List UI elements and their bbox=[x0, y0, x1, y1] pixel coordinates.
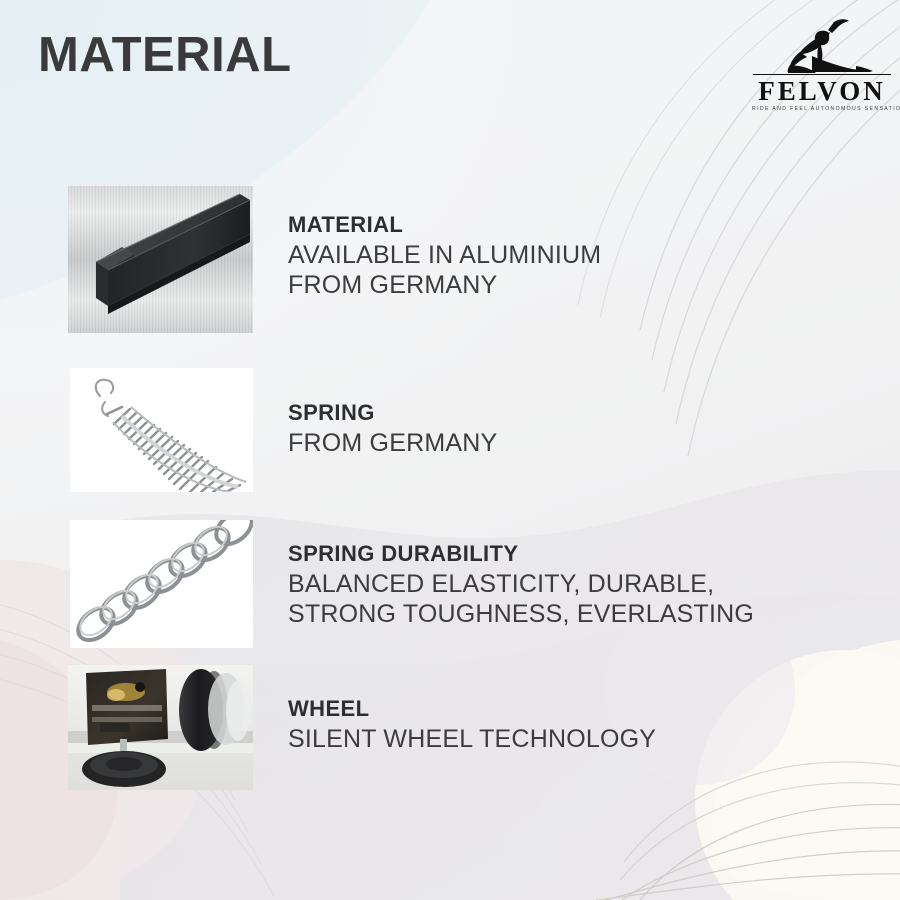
square-tube-illustration bbox=[68, 186, 253, 333]
thumbnail-wheel-mechanism bbox=[68, 665, 253, 790]
logo-wordmark: FELVON bbox=[752, 78, 892, 105]
feature-body: SILENT WHEEL TECHNOLOGY bbox=[288, 724, 656, 754]
feature-body-line: AVAILABLE IN ALUMINIUM bbox=[288, 240, 601, 270]
feature-body-line: FROM GERMANY bbox=[288, 428, 497, 458]
poster-canvas: MATERIAL FELVON RIDE bbox=[0, 0, 900, 900]
feature-body: BALANCED ELASTICITY, DURABLE, STRONG TOU… bbox=[288, 569, 754, 629]
feature-body-line: STRONG TOUGHNESS, EVERLASTING bbox=[288, 599, 754, 629]
feature-text: SPRING FROM GERMANY bbox=[288, 400, 497, 458]
feature-body-line: BALANCED ELASTICITY, DURABLE, bbox=[288, 569, 754, 599]
yoga-figure-icon bbox=[752, 16, 892, 76]
feature-body-line: FROM GERMANY bbox=[288, 270, 601, 300]
thumbnail-aluminium-tube bbox=[68, 186, 253, 333]
wheel-mechanism-illustration bbox=[68, 665, 253, 790]
feature-heading: WHEEL bbox=[288, 696, 656, 722]
feature-body: FROM GERMANY bbox=[288, 428, 497, 458]
feature-heading: SPRING bbox=[288, 400, 497, 426]
page-title: MATERIAL bbox=[38, 31, 292, 80]
feature-text: MATERIAL AVAILABLE IN ALUMINIUM FROM GER… bbox=[288, 212, 601, 300]
thumbnail-tension-spring bbox=[70, 368, 253, 492]
coil-spring-illustration bbox=[70, 520, 253, 648]
feature-text: SPRING DURABILITY BALANCED ELASTICITY, D… bbox=[288, 541, 754, 629]
feature-body-line: SILENT WHEEL TECHNOLOGY bbox=[288, 724, 656, 754]
tension-spring-illustration bbox=[70, 368, 253, 492]
feature-heading: SPRING DURABILITY bbox=[288, 541, 754, 567]
thumbnail-coil-spring bbox=[70, 520, 253, 648]
logo-tagline: RIDE AND FEEL AUTONOMOUS SENSATION bbox=[752, 106, 892, 112]
feature-body: AVAILABLE IN ALUMINIUM FROM GERMANY bbox=[288, 240, 601, 300]
feature-heading: MATERIAL bbox=[288, 212, 601, 238]
feature-text: WHEEL SILENT WHEEL TECHNOLOGY bbox=[288, 696, 656, 754]
brand-logo: FELVON RIDE AND FEEL AUTONOMOUS SENSATIO… bbox=[752, 16, 892, 120]
